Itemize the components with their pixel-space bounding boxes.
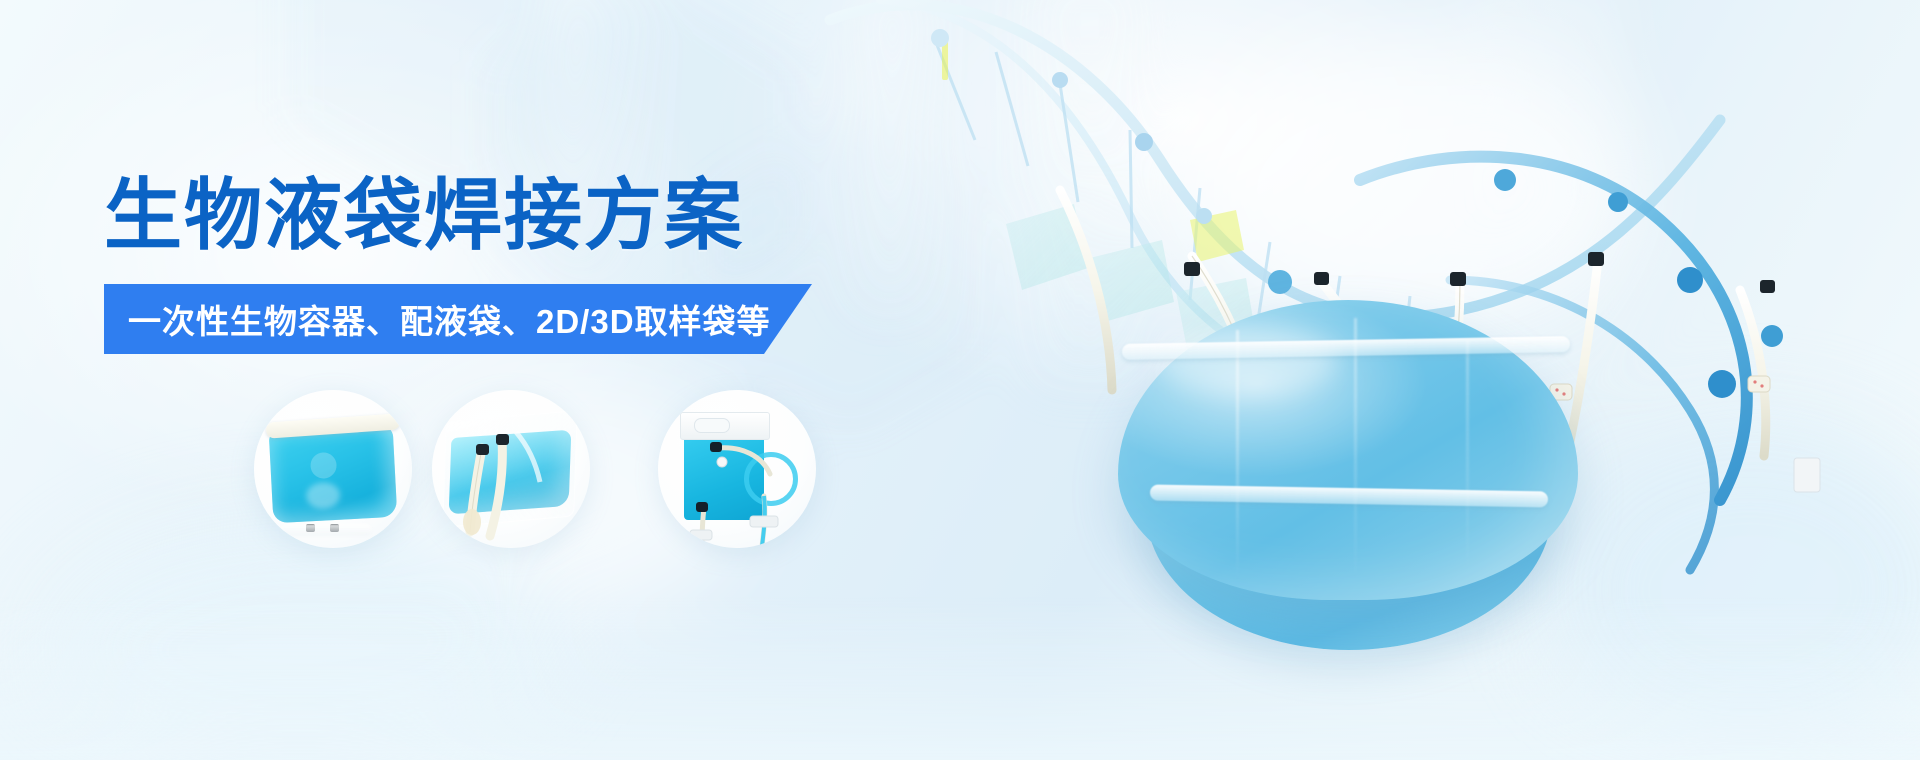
soft-glow: [1180, 40, 1640, 340]
pillow-bag-bottomseal: [280, 524, 372, 536]
lab-glass-blur: [1030, 0, 1150, 390]
headline-block: 生物液袋焊接方案 一次性生物容器、配液袋、2D/3D取样袋等: [104, 176, 812, 354]
page-title: 生物液袋焊接方案: [104, 176, 812, 254]
sampling-bag-tubing-icon: [658, 390, 816, 548]
hero-banner: 生物液袋焊接方案 一次性生物容器、配液袋、2D/3D取样袋等: [0, 0, 1920, 760]
hexagon-shape: [875, 0, 1145, 134]
3d-bag-tubing-icon: [432, 390, 590, 548]
background-layer: [0, 0, 1920, 760]
hexagon-shape: [285, 0, 615, 122]
product-circle-pillow-bag[interactable]: [254, 390, 412, 548]
bag-shine: [305, 482, 340, 510]
product-circle-3d-bag[interactable]: [432, 390, 590, 548]
bag-highlight: [1158, 326, 1338, 396]
foreground-sheen: [0, 596, 1920, 760]
bag-port-disc: [310, 452, 337, 479]
background-blur-shapes: [0, 0, 1920, 760]
bag-fold: [1354, 318, 1357, 580]
subtitle-bar: 一次性生物容器、配液袋、2D/3D取样袋等: [104, 284, 812, 354]
subtitle-text: 一次性生物容器、配液袋、2D/3D取样袋等: [104, 295, 771, 343]
bag-fold: [1466, 340, 1469, 570]
bag-fold: [1236, 330, 1239, 580]
product-circle-sampling-bag[interactable]: [658, 390, 816, 548]
lab-glass-blur: [855, 0, 925, 310]
pillow-bag-body: [269, 425, 398, 523]
soft-glow: [1540, 420, 1920, 760]
soft-glow: [40, 520, 560, 760]
